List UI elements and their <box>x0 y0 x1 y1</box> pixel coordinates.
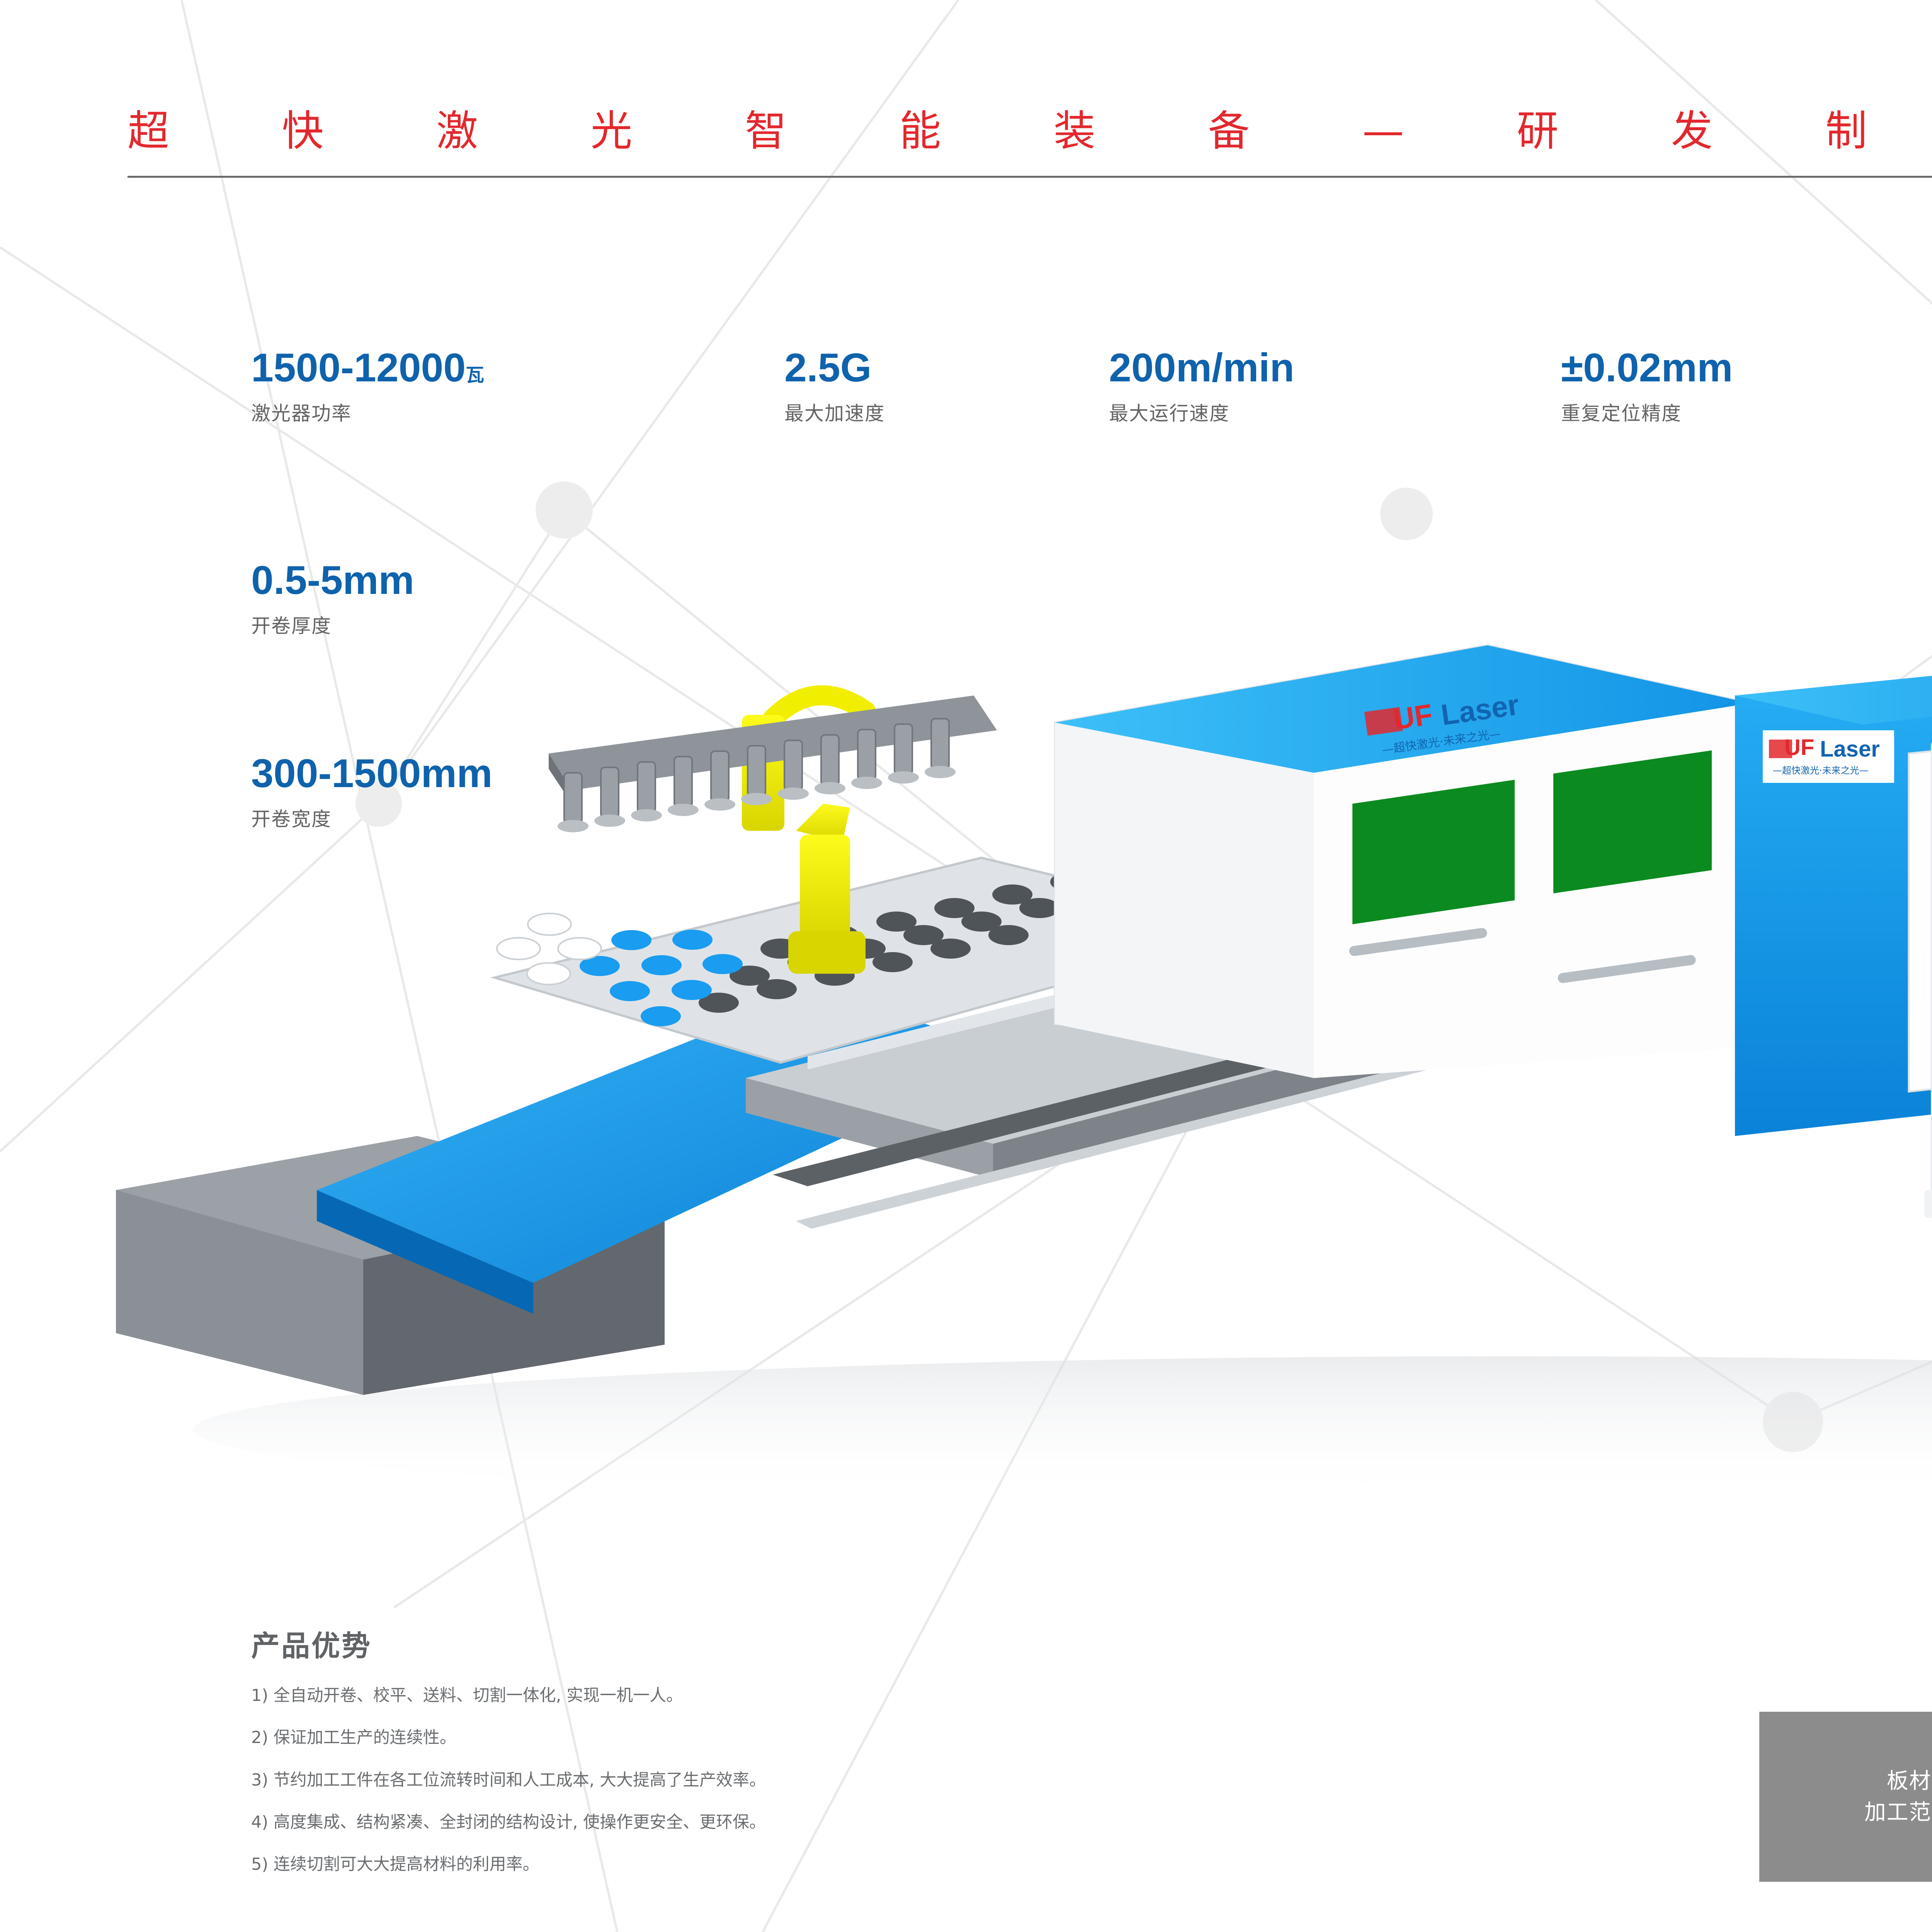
spec-repeat-accuracy: ±0.02mm 重复定位精度 <box>1561 348 1733 426</box>
tagline-dash: — <box>1362 111 1404 152</box>
processing-range-table: 板材 加工范围 2米×1.2米 3米×1.5米 4米×2米 <box>1759 1712 1932 1882</box>
machine-illustration: UF Laser —超快激光·未来之光— UF Laser —超快激光·未来之光… <box>116 587 1932 1515</box>
spec-repeat-accuracy-value: ±0.02mm <box>1561 348 1733 388</box>
header-divider-rule <box>128 176 1932 178</box>
spec-laser-power: 1500-12000瓦 激光器功率 <box>251 348 484 426</box>
spec-max-speed-label: 最大运行速度 <box>1109 398 1294 426</box>
machine-window-right <box>1553 750 1712 893</box>
tagline-char-7: 备 <box>1208 111 1250 152</box>
laser-enclosure-left: UF Laser —超快激光·未来之光— <box>1055 645 1750 1078</box>
tagline-char-10: 发 <box>1671 111 1713 152</box>
svg-text:Laser: Laser <box>1820 736 1880 762</box>
svg-text:UF: UF <box>1391 698 1434 736</box>
svg-text:UF: UF <box>1784 735 1814 760</box>
tagline-char-4: 智 <box>745 111 787 152</box>
brochure-page: 超 快 激 光 智 能 装 备 — 研 发 制 造 服 务 商 UF Laser <box>0 0 1932 1932</box>
spec-laser-power-label: 激光器功率 <box>251 398 484 426</box>
product-advantages-section: 产品优势 1) 全自动开卷、校平、送料、切割一体化, 实现一机一人。 2) 保证… <box>251 1623 1256 1898</box>
advantage-item-1: 1) 全自动开卷、校平、送料、切割一体化, 实现一机一人。 <box>251 1687 1256 1705</box>
table-header-line1: 板材 <box>1887 1765 1932 1797</box>
table-header-cell: 板材 加工范围 <box>1759 1712 1932 1882</box>
spec-laser-power-unit: 瓦 <box>466 365 484 386</box>
machine-window-left <box>1352 780 1515 924</box>
spec-max-acceleration: 2.5G 最大加速度 <box>784 348 885 426</box>
spec-repeat-accuracy-label: 重复定位精度 <box>1561 398 1733 426</box>
header-tagline: 超 快 激 光 智 能 装 备 — 研 发 制 造 服 务 商 <box>128 108 1932 155</box>
tagline-char-11: 制 <box>1825 111 1867 152</box>
tagline-char-3: 光 <box>590 111 632 152</box>
tagline-char-2: 激 <box>436 111 478 152</box>
machine-logo-cabin: UF Laser —超快激光·未来之光— <box>1763 730 1894 783</box>
advantages-title: 产品优势 <box>251 1623 1256 1664</box>
cabin-sliding-door <box>1909 734 1932 1092</box>
laser-cabin-main: UF Laser —超快激光·未来之光— <box>1735 653 1932 1136</box>
tagline-char-0: 超 <box>128 111 169 152</box>
spec-max-acceleration-label: 最大加速度 <box>784 398 885 426</box>
tagline-char-5: 能 <box>899 111 941 152</box>
advantage-item-4: 4) 高度集成、结构紧凑、全封闭的结构设计, 使操作更安全、更环保。 <box>251 1813 1256 1832</box>
tagline-char-1: 快 <box>282 111 323 152</box>
tagline-char-6: 装 <box>1054 111 1095 152</box>
advantage-item-3: 3) 节约加工工件在各工位流转时间和人工成本, 大大提高了生产效率。 <box>251 1771 1256 1789</box>
spec-max-speed-value: 200m/min <box>1109 348 1294 388</box>
svg-text:—超快激光·未来之光—: —超快激光·未来之光— <box>1773 765 1869 776</box>
spec-laser-power-value: 1500-12000瓦 <box>251 348 484 388</box>
tagline-char-9: 研 <box>1517 111 1558 152</box>
advantage-item-5: 5) 连续切割可大大提高材料的利用率。 <box>251 1855 1256 1874</box>
spec-max-acceleration-value: 2.5G <box>784 348 885 388</box>
hmi-base <box>1924 1190 1932 1218</box>
advantage-item-2: 2) 保证加工生产的连续性。 <box>251 1729 1256 1747</box>
spec-max-speed: 200m/min 最大运行速度 <box>1109 348 1294 426</box>
table-header-line2: 加工范围 <box>1864 1797 1932 1828</box>
